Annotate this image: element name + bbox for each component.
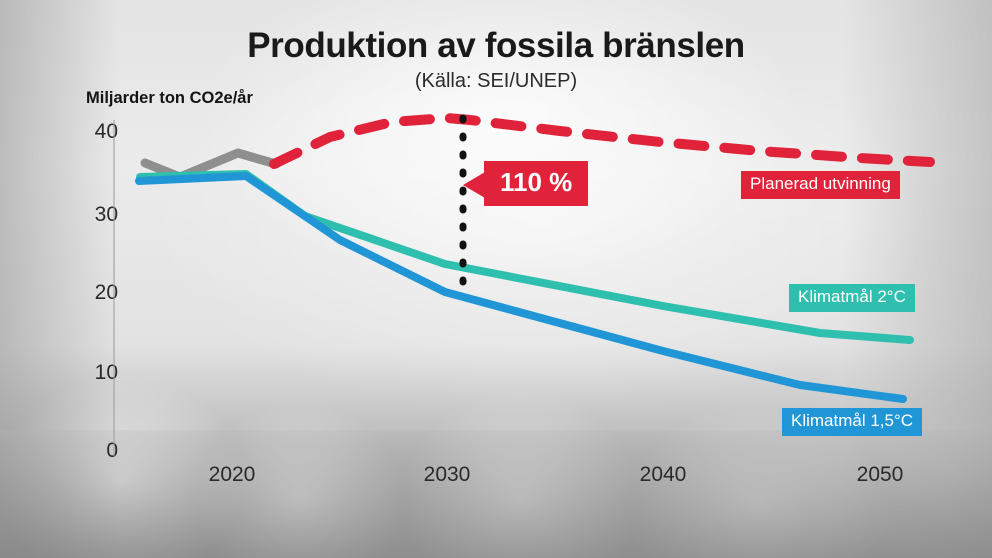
chart-screenshot: Produktion av fossila bränslen (Källa: S… bbox=[0, 0, 992, 558]
series-line-planned bbox=[274, 118, 930, 164]
chart-plot-area bbox=[0, 0, 992, 558]
callout-110-percent: 110 % bbox=[484, 161, 588, 206]
legend-label-planned: Planerad utvinning bbox=[741, 171, 900, 199]
callout-arrow-icon bbox=[463, 172, 485, 198]
legend-label-goal15: Klimatmål 1,5°C bbox=[782, 408, 922, 436]
legend-label-goal2: Klimatmål 2°C bbox=[789, 284, 915, 312]
